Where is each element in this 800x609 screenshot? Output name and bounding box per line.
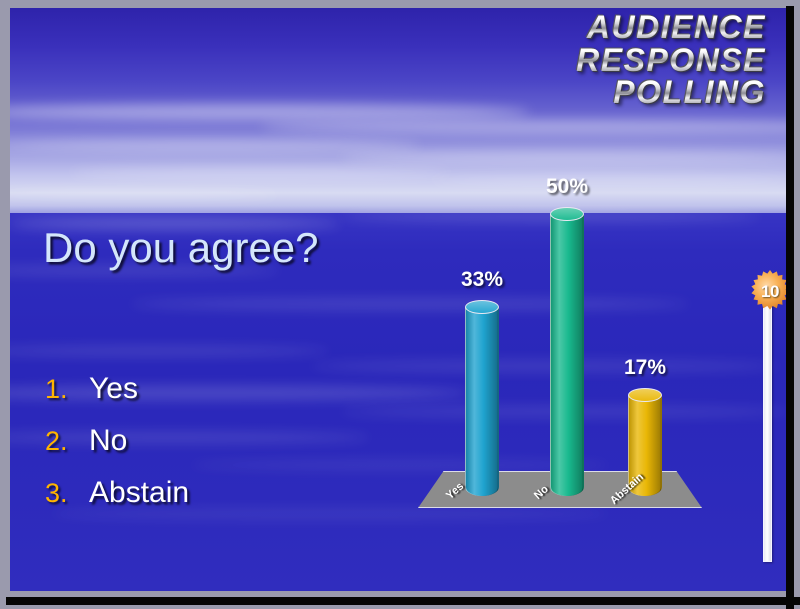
title-line-2: RESPONSE (576, 44, 766, 77)
cylinder-yes (465, 300, 499, 496)
slide-frame: AUDIENCE RESPONSE POLLING Do you agree? … (0, 0, 800, 609)
cylinder-body-no (550, 214, 584, 496)
answer-option-1[interactable]: 1. Yes (45, 372, 189, 406)
bar-no: 50% (550, 207, 584, 496)
countdown-value: 10 (761, 282, 779, 302)
slide-title: AUDIENCE RESPONSE POLLING (576, 11, 766, 109)
presentation-slide: AUDIENCE RESPONSE POLLING Do you agree? … (10, 8, 786, 591)
bar-value-no: 50% (546, 175, 588, 199)
cylinder-no (550, 207, 584, 496)
answer-number-3: 3. (45, 478, 89, 509)
bar-value-yes: 33% (461, 268, 503, 292)
poll-results-bar-chart: 33% 50% 17% Yes (410, 188, 710, 568)
frame-shadow-right (786, 6, 794, 609)
answer-label-3: Abstain (89, 476, 189, 510)
answer-label-1: Yes (89, 372, 138, 406)
answer-number-2: 2. (45, 426, 89, 457)
answer-label-2: No (89, 424, 127, 458)
title-line-3: POLLING (576, 76, 766, 109)
cylinder-top-abstain (628, 388, 662, 402)
cylinder-top-yes (465, 300, 499, 314)
bar-yes: 33% (465, 300, 499, 496)
title-line-1: AUDIENCE (576, 11, 766, 44)
answer-number-1: 1. (45, 374, 89, 405)
cylinder-top-no (550, 207, 584, 221)
countdown-timer: 10 (748, 270, 786, 560)
frame-shadow-bottom (6, 597, 800, 605)
cylinder-body-yes (465, 307, 499, 496)
answer-options-list: 1. Yes 2. No 3. Abstain (45, 372, 189, 528)
countdown-starburst-icon: 10 (748, 270, 786, 314)
bar-value-abstain: 17% (624, 356, 666, 380)
timer-progress-bar (763, 302, 772, 562)
answer-option-2[interactable]: 2. No (45, 424, 189, 458)
answer-option-3[interactable]: 3. Abstain (45, 476, 189, 510)
poll-question: Do you agree? (43, 224, 319, 272)
